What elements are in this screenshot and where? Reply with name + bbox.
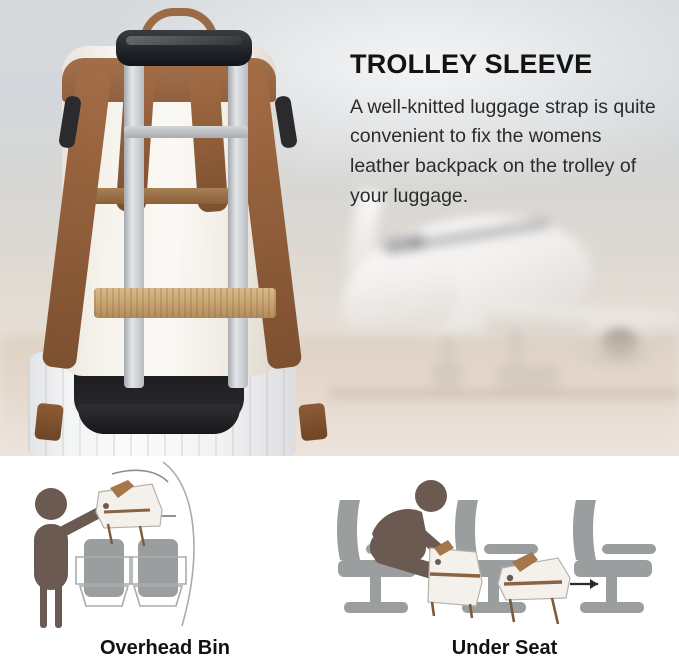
suitcase-grip	[78, 404, 240, 434]
overhead-bin-caption: Overhead Bin	[0, 637, 330, 660]
hero-copy: TROLLEY SLEEVE A well-knitted luggage st…	[350, 50, 660, 211]
overhead-bin-lid	[112, 470, 168, 482]
trolley-handle-crossbar	[124, 126, 248, 138]
backpack-icon-under-seat-left	[428, 540, 482, 618]
backpack-on-luggage	[0, 0, 360, 456]
page-title: TROLLEY SLEEVE	[350, 50, 660, 80]
strap-tip-right	[298, 403, 328, 442]
hero-description: A well-knitted luggage strap is quite co…	[350, 93, 660, 212]
direction-arrow-icon	[570, 579, 598, 589]
overhead-bin-scene: Overhead Bin	[0, 456, 330, 662]
usage-illustration-panel: Overhead Bin	[0, 456, 679, 662]
under-seat-scene: Under Seat	[330, 456, 679, 662]
trolley-sleeve-strap	[94, 288, 276, 318]
under-seat-illustration	[330, 456, 679, 631]
tarmac-marking	[330, 389, 679, 398]
product-feature-image: TROLLEY SLEEVE A well-knitted luggage st…	[0, 0, 679, 662]
strap-clip-right	[274, 95, 298, 149]
trolley-handle-grip	[116, 30, 252, 66]
trolley-handle-post-left	[124, 58, 144, 388]
strap-tip-left	[34, 403, 64, 442]
hero-photo: TROLLEY SLEEVE A well-knitted luggage st…	[0, 0, 679, 456]
seat-front-right	[130, 539, 186, 606]
under-seat-caption: Under Seat	[330, 637, 679, 660]
seat-side-3	[573, 500, 656, 613]
backpack-icon-overhead	[96, 480, 162, 546]
seat-front-left	[76, 539, 132, 606]
trolley-handle-post-right	[228, 58, 248, 388]
overhead-bin-illustration	[0, 456, 330, 631]
